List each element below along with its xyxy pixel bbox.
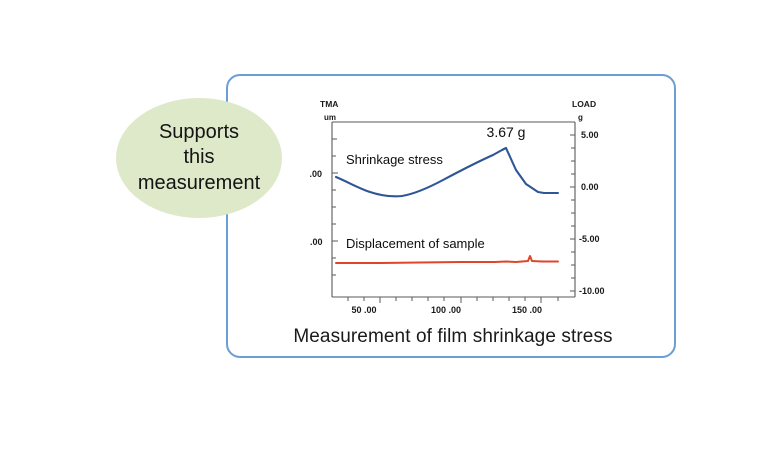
chart-svg: TMA um LOAD g xyxy=(310,96,630,321)
right-tick-label-minus5: -5.00 xyxy=(579,234,600,244)
right-tick-label-minus10: -10.00 xyxy=(579,286,605,296)
supports-callout-ellipse: Supports this measurement xyxy=(116,98,282,218)
displacement-label: Displacement of sample xyxy=(346,236,485,251)
right-axis-unit: g xyxy=(578,113,583,122)
left-tick-label-100: 100 .00 xyxy=(310,169,322,179)
right-tick-label-5: 5.00 xyxy=(581,130,599,140)
left-axis-title: TMA xyxy=(320,99,338,109)
left-axis-unit: um xyxy=(324,113,336,122)
x-tick-label-50: 50 .00 xyxy=(351,305,376,315)
tma-load-chart: TMA um LOAD g xyxy=(310,96,630,321)
right-axis-ticks xyxy=(570,135,575,291)
x-axis-ticks xyxy=(348,297,558,303)
right-axis-title: LOAD xyxy=(572,99,596,109)
displacement-line xyxy=(336,256,558,263)
callout-line-1: Supports xyxy=(159,120,239,146)
x-tick-label-150: 150 .00 xyxy=(512,305,542,315)
left-tick-label-0: -0.00 xyxy=(310,237,323,247)
x-axis-label: Temp [°C] xyxy=(434,319,474,321)
measurement-card: TMA um LOAD g xyxy=(226,74,676,358)
peak-load-annotation: 3.67 g xyxy=(487,124,526,140)
callout-line-3: measurement xyxy=(138,171,260,197)
x-tick-label-100: 100 .00 xyxy=(431,305,461,315)
right-tick-label-0: 0.00 xyxy=(581,182,599,192)
callout-line-2: this xyxy=(183,145,214,171)
shrinkage-stress-label: Shrinkage stress xyxy=(346,152,443,167)
plot-frame xyxy=(332,122,575,297)
card-caption: Measurement of film shrinkage stress xyxy=(228,326,678,348)
left-axis-ticks xyxy=(332,139,338,275)
